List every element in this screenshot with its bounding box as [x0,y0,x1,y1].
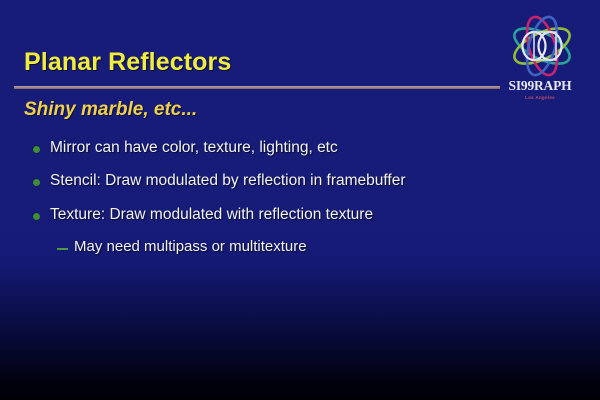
siggraph-wordmark: SI99RAPH [488,78,592,94]
bullet-list: Mirror can have color, texture, lighting… [0,138,600,267]
siggraph-logo: SI99RAPH Los Angeles [488,10,592,106]
title-divider-rule [14,86,500,89]
list-item: Stencil: Draw modulated by reflection in… [0,171,600,190]
list-item-sub-label: May need multipass or multitexture [74,238,307,257]
siggraph-rings-icon [496,10,588,82]
list-item-label: Mirror can have color, texture, lighting… [50,138,338,157]
bullet-dot-icon [33,213,40,220]
bullet-dot-icon [33,146,40,153]
list-item-label: Texture: Draw modulated with reflection … [50,205,373,224]
slide-canvas: Planar Reflectors Shiny marble, etc... M… [0,0,600,400]
bullet-dash-icon [57,248,68,250]
bullet-dot-icon [33,179,40,186]
list-item: Mirror can have color, texture, lighting… [0,138,600,157]
slide-subtitle: Shiny marble, etc... [24,99,197,121]
list-item-label: Stencil: Draw modulated by reflection in… [50,171,406,190]
list-item: Texture: Draw modulated with reflection … [0,205,600,224]
slide-title: Planar Reflectors [24,48,231,77]
siggraph-location-label: Los Angeles [488,95,592,100]
list-item-sub: May need multipass or multitexture [0,238,600,257]
